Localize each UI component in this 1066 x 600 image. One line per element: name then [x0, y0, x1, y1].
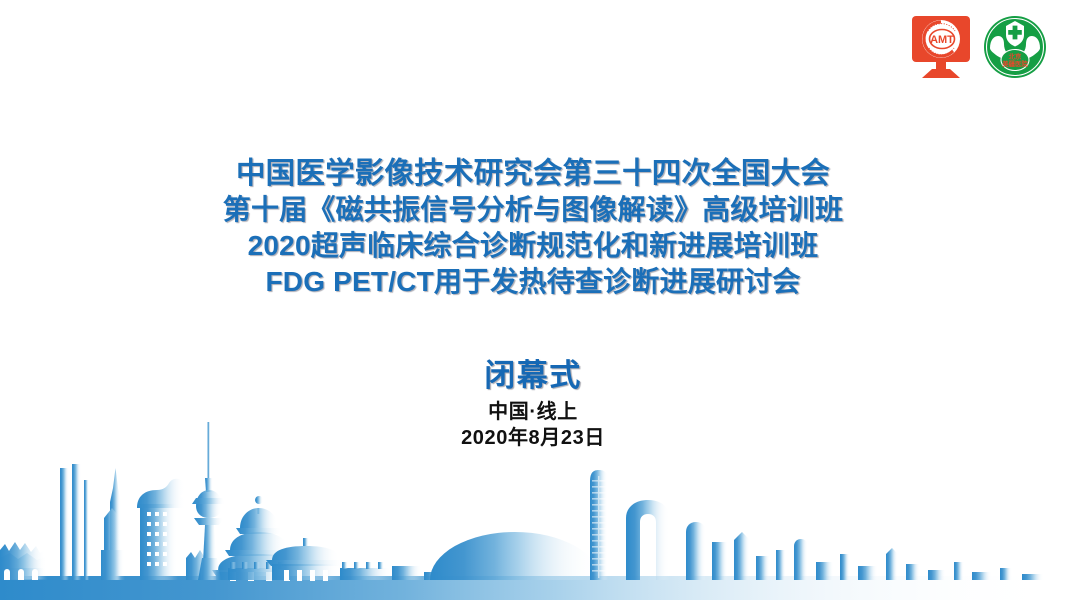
camt-logo: AMT — [908, 12, 974, 82]
camt-logo-text: AMT — [930, 34, 954, 46]
title-line-3: 2020超声临床综合诊断规范化和新进展培训班 — [0, 228, 1066, 264]
tiananmen-gate — [266, 538, 392, 581]
conference-slide: AMT 北京 美疆医院 中国医学影像技术研究会第三十四次 — [0, 0, 1066, 600]
title-block: 中国医学影像技术研究会第三十四次全国大会 第十届《磁共振信号分析与图像解读》高级… — [0, 155, 1066, 300]
title-line-1: 中国医学影像技术研究会第三十四次全国大会 — [0, 155, 1066, 192]
national-grand-theatre-dome — [430, 532, 600, 580]
china-zun-tower — [590, 470, 608, 580]
temple-of-heaven — [212, 496, 306, 581]
cctv-headquarters — [626, 500, 670, 580]
ceremony-block: 闭幕式 中国·线上 2020年8月23日 — [0, 357, 1066, 451]
ceremony-location: 中国·线上 — [0, 399, 1066, 425]
ceremony-date: 2020年8月23日 — [0, 425, 1066, 451]
title-line-4: FDG PET/CT用于发热待查诊断进展研讨会 — [0, 264, 1066, 300]
hospital-logo: 北京 美疆医院 — [982, 12, 1048, 82]
hospital-logo-text-line1: 北京 — [1009, 52, 1022, 61]
hospital-logo-text-line2: 美疆医院 — [1002, 59, 1028, 68]
logo-bar: AMT 北京 美疆医院 — [908, 12, 1048, 82]
ceremony-heading: 闭幕式 — [0, 357, 1066, 395]
title-line-2: 第十届《磁共振信号分析与图像解读》高级培训班 — [0, 192, 1066, 228]
